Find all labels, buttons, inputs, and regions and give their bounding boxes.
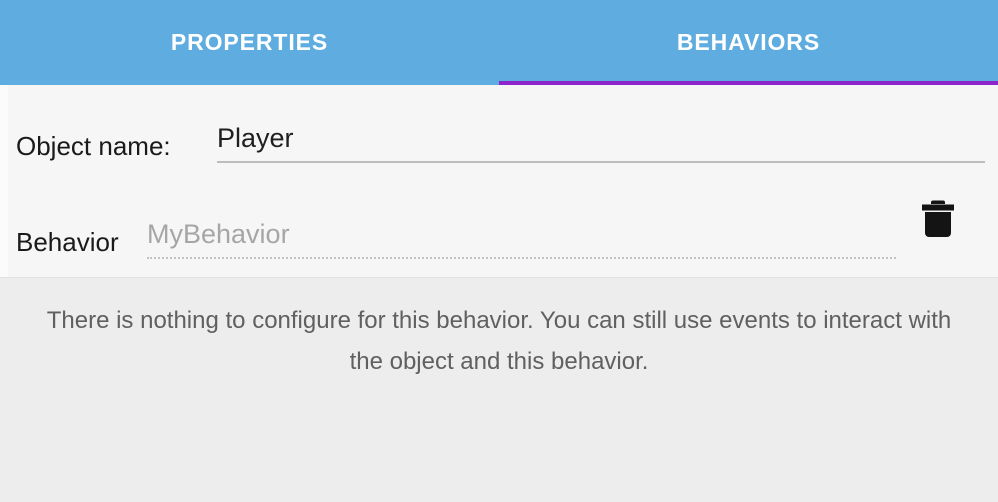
no-configuration-message: There is nothing to configure for this b… bbox=[40, 300, 958, 382]
behavior-name-input[interactable]: MyBehavior bbox=[147, 218, 896, 259]
behavior-name-placeholder: MyBehavior bbox=[147, 218, 896, 250]
object-name-value: Player bbox=[217, 122, 985, 154]
fields-panel: Object name: Player Behavior MyBehavior bbox=[0, 85, 998, 278]
behavior-config-message-area: There is nothing to configure for this b… bbox=[0, 278, 998, 502]
object-name-label: Object name: bbox=[16, 131, 171, 162]
tab-properties[interactable]: PROPERTIES bbox=[0, 0, 499, 85]
object-name-row: Object name: Player bbox=[0, 107, 998, 167]
tab-behaviors[interactable]: BEHAVIORS bbox=[499, 0, 998, 85]
behavior-row: Behavior MyBehavior bbox=[0, 203, 998, 263]
trash-icon bbox=[921, 200, 955, 238]
behaviors-panel: PROPERTIES BEHAVIORS Object name: Player… bbox=[0, 0, 998, 502]
tab-behaviors-label: BEHAVIORS bbox=[677, 29, 820, 56]
object-name-input[interactable]: Player bbox=[217, 122, 985, 163]
behavior-label: Behavior bbox=[16, 227, 119, 258]
tab-properties-label: PROPERTIES bbox=[171, 29, 328, 56]
delete-behavior-button[interactable] bbox=[914, 195, 962, 243]
tab-bar: PROPERTIES BEHAVIORS bbox=[0, 0, 998, 85]
